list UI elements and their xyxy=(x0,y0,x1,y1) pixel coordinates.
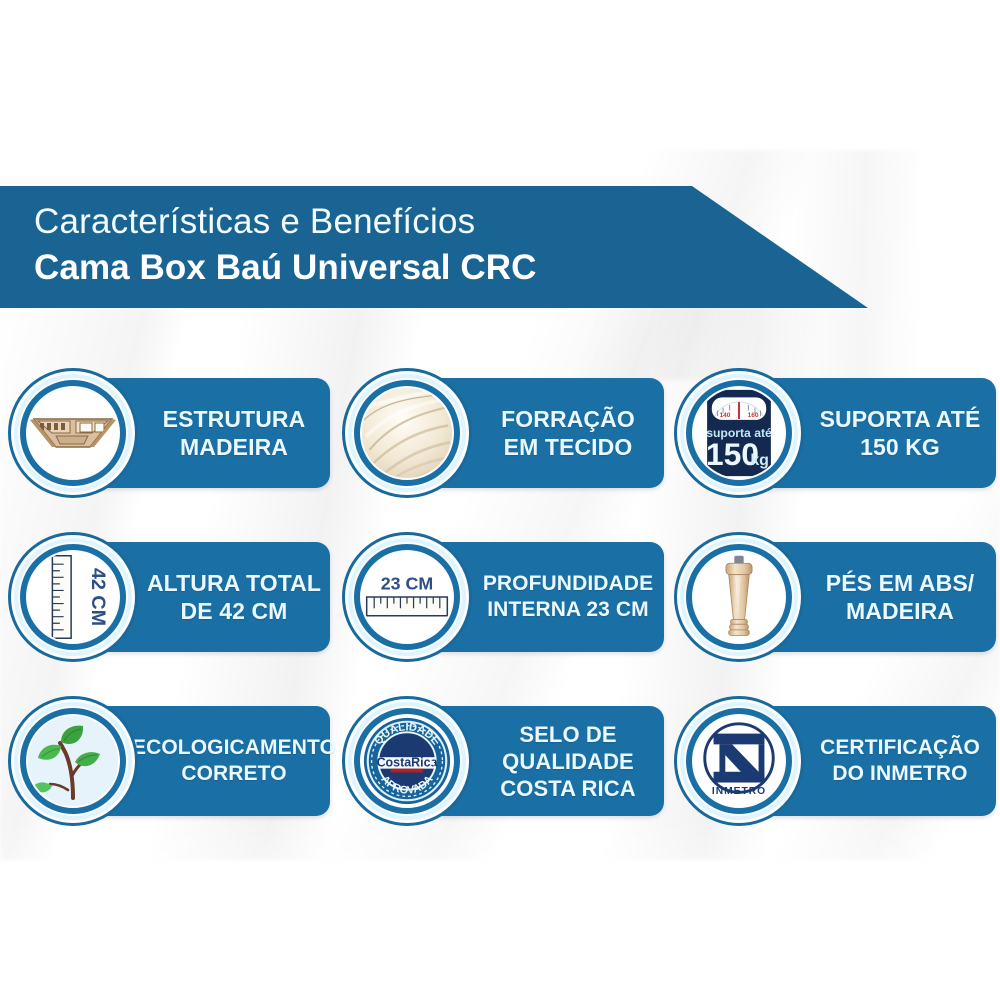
badge-face xyxy=(362,388,452,478)
badge-face: 42 CM xyxy=(28,552,118,642)
horizontal-ruler-icon: 23 CM xyxy=(362,552,452,642)
feature-badge: 140 160 suporta até 150 kg xyxy=(674,368,804,498)
badge-face: INMETRO xyxy=(694,716,784,806)
feature-label-line: CORRETO xyxy=(181,761,286,787)
feature-badge xyxy=(342,368,472,498)
feature-item-suporta-150kg[interactable]: SUPORTA ATÉ 150 KG xyxy=(668,366,1000,516)
feature-label-line: QUALIDADE xyxy=(502,748,634,775)
feature-label-line: ESTRUTURA xyxy=(163,405,306,433)
feature-label: SUPORTA ATÉ 150 KG xyxy=(812,378,988,488)
feature-badge: 42 CM xyxy=(8,532,138,662)
ruler-value: 23 CM xyxy=(381,574,433,594)
feature-label: ESTRUTURA MADEIRA xyxy=(146,378,322,488)
badge-face xyxy=(28,716,118,806)
infographic-page: Características e Benefícios Cama Box Ba… xyxy=(0,0,1000,1000)
feature-grid: ESTRUTURA MADEIRA xyxy=(0,366,1000,858)
inmetro-logo-icon: INMETRO xyxy=(694,716,784,806)
feature-label-line: MADEIRA xyxy=(846,597,954,625)
feature-label-line: DE 42 CM xyxy=(181,597,288,625)
scale-dial-right-label: 160 xyxy=(748,412,759,419)
feature-item-forracao-tecido[interactable]: FORRAÇÃO EM TECIDO xyxy=(336,366,670,516)
feature-label-line: CERTIFICAÇÃO xyxy=(820,735,980,761)
quality-seal-icon: QUALIDADE APROVADA Colchões CostaRica xyxy=(362,716,452,806)
feature-item-altura-42cm[interactable]: ALTURA TOTAL DE 42 CM xyxy=(2,530,336,680)
scale-dial-left-label: 140 xyxy=(719,412,730,419)
feature-item-certificacao-inmetro[interactable]: CERTIFICAÇÃO DO INMETRO INMETRO xyxy=(668,694,1000,844)
feature-badge: INMETRO xyxy=(674,696,804,826)
badge-face: 23 CM xyxy=(362,552,452,642)
page-title: Cama Box Baú Universal CRC xyxy=(34,245,674,291)
badge-face xyxy=(28,388,118,478)
feature-label-line: ECOLOGICAMENTO xyxy=(132,735,336,761)
feature-label: CERTIFICAÇÃO DO INMETRO xyxy=(812,706,988,816)
feature-label-line: EM TECIDO xyxy=(504,433,633,461)
feature-item-ecologicamente-correto[interactable]: ECOLOGICAMENTO CORRETO xyxy=(2,694,336,844)
badge-face: QUALIDADE APROVADA Colchões CostaRica xyxy=(362,716,452,806)
inmetro-caption: INMETRO xyxy=(712,786,766,797)
seal-brand: CostaRica xyxy=(377,756,438,770)
feature-label-line: PROFUNDIDADE xyxy=(483,571,653,597)
page-subtitle: Características e Benefícios xyxy=(34,198,674,245)
feature-label: ALTURA TOTAL DE 42 CM xyxy=(146,542,322,652)
feature-badge: 23 CM xyxy=(342,532,472,662)
feature-label-line: MADEIRA xyxy=(180,433,288,461)
feature-label: SELO DE QUALIDADE COSTA RICA xyxy=(480,706,656,816)
feature-row: ESTRUTURA MADEIRA xyxy=(0,366,1000,530)
feature-badge xyxy=(674,532,804,662)
header-banner: Características e Benefícios Cama Box Ba… xyxy=(0,186,868,308)
feature-label-line: SELO DE xyxy=(519,721,616,748)
vertical-ruler-icon: 42 CM xyxy=(28,552,118,642)
header-text-block: Características e Benefícios Cama Box Ba… xyxy=(34,198,674,291)
feature-badge: QUALIDADE APROVADA Colchões CostaRica xyxy=(342,696,472,826)
fabric-swatch-icon xyxy=(362,388,452,478)
feature-label-line: DO INMETRO xyxy=(832,761,967,787)
feature-item-selo-qualidade[interactable]: SELO DE QUALIDADE COSTA RICA xyxy=(336,694,670,844)
feature-item-estrutura-madeira[interactable]: ESTRUTURA MADEIRA xyxy=(2,366,336,516)
feature-row: ECOLOGICAMENTO CORRETO xyxy=(0,694,1000,858)
feature-label-line: SUPORTA ATÉ xyxy=(820,405,981,433)
weight-scale-icon: 140 160 suporta até 150 kg xyxy=(694,388,784,478)
feature-badge xyxy=(8,696,138,826)
feature-label-line: 150 KG xyxy=(860,433,940,461)
feature-label-line: COSTA RICA xyxy=(500,775,635,802)
feature-label-line: INTERNA 23 CM xyxy=(487,597,649,623)
feature-label-line: PÉS EM ABS/ xyxy=(826,569,975,597)
feature-label-line: ALTURA TOTAL xyxy=(147,569,321,597)
badge-face xyxy=(694,552,784,642)
feature-badge xyxy=(8,368,138,498)
scale-unit: kg xyxy=(750,452,769,469)
feature-label: ECOLOGICAMENTO CORRETO xyxy=(146,706,322,816)
feature-item-pes-abs-madeira[interactable]: PÉS EM ABS/ MADEIRA xyxy=(668,530,1000,680)
feature-item-profundidade-23cm[interactable]: PROFUNDIDADE INTERNA 23 CM 23 CM xyxy=(336,530,670,680)
furniture-leg-icon xyxy=(694,552,784,642)
wood-frame-icon xyxy=(30,403,116,463)
badge-face: 140 160 suporta até 150 kg xyxy=(694,388,784,478)
feature-label: PROFUNDIDADE INTERNA 23 CM xyxy=(480,542,656,652)
feature-label-line: FORRAÇÃO xyxy=(501,405,635,433)
plant-sapling-icon xyxy=(28,716,118,806)
feature-label: PÉS EM ABS/ MADEIRA xyxy=(812,542,988,652)
ruler-value: 42 CM xyxy=(87,568,109,626)
feature-label: FORRAÇÃO EM TECIDO xyxy=(480,378,656,488)
feature-row: ALTURA TOTAL DE 42 CM xyxy=(0,530,1000,694)
